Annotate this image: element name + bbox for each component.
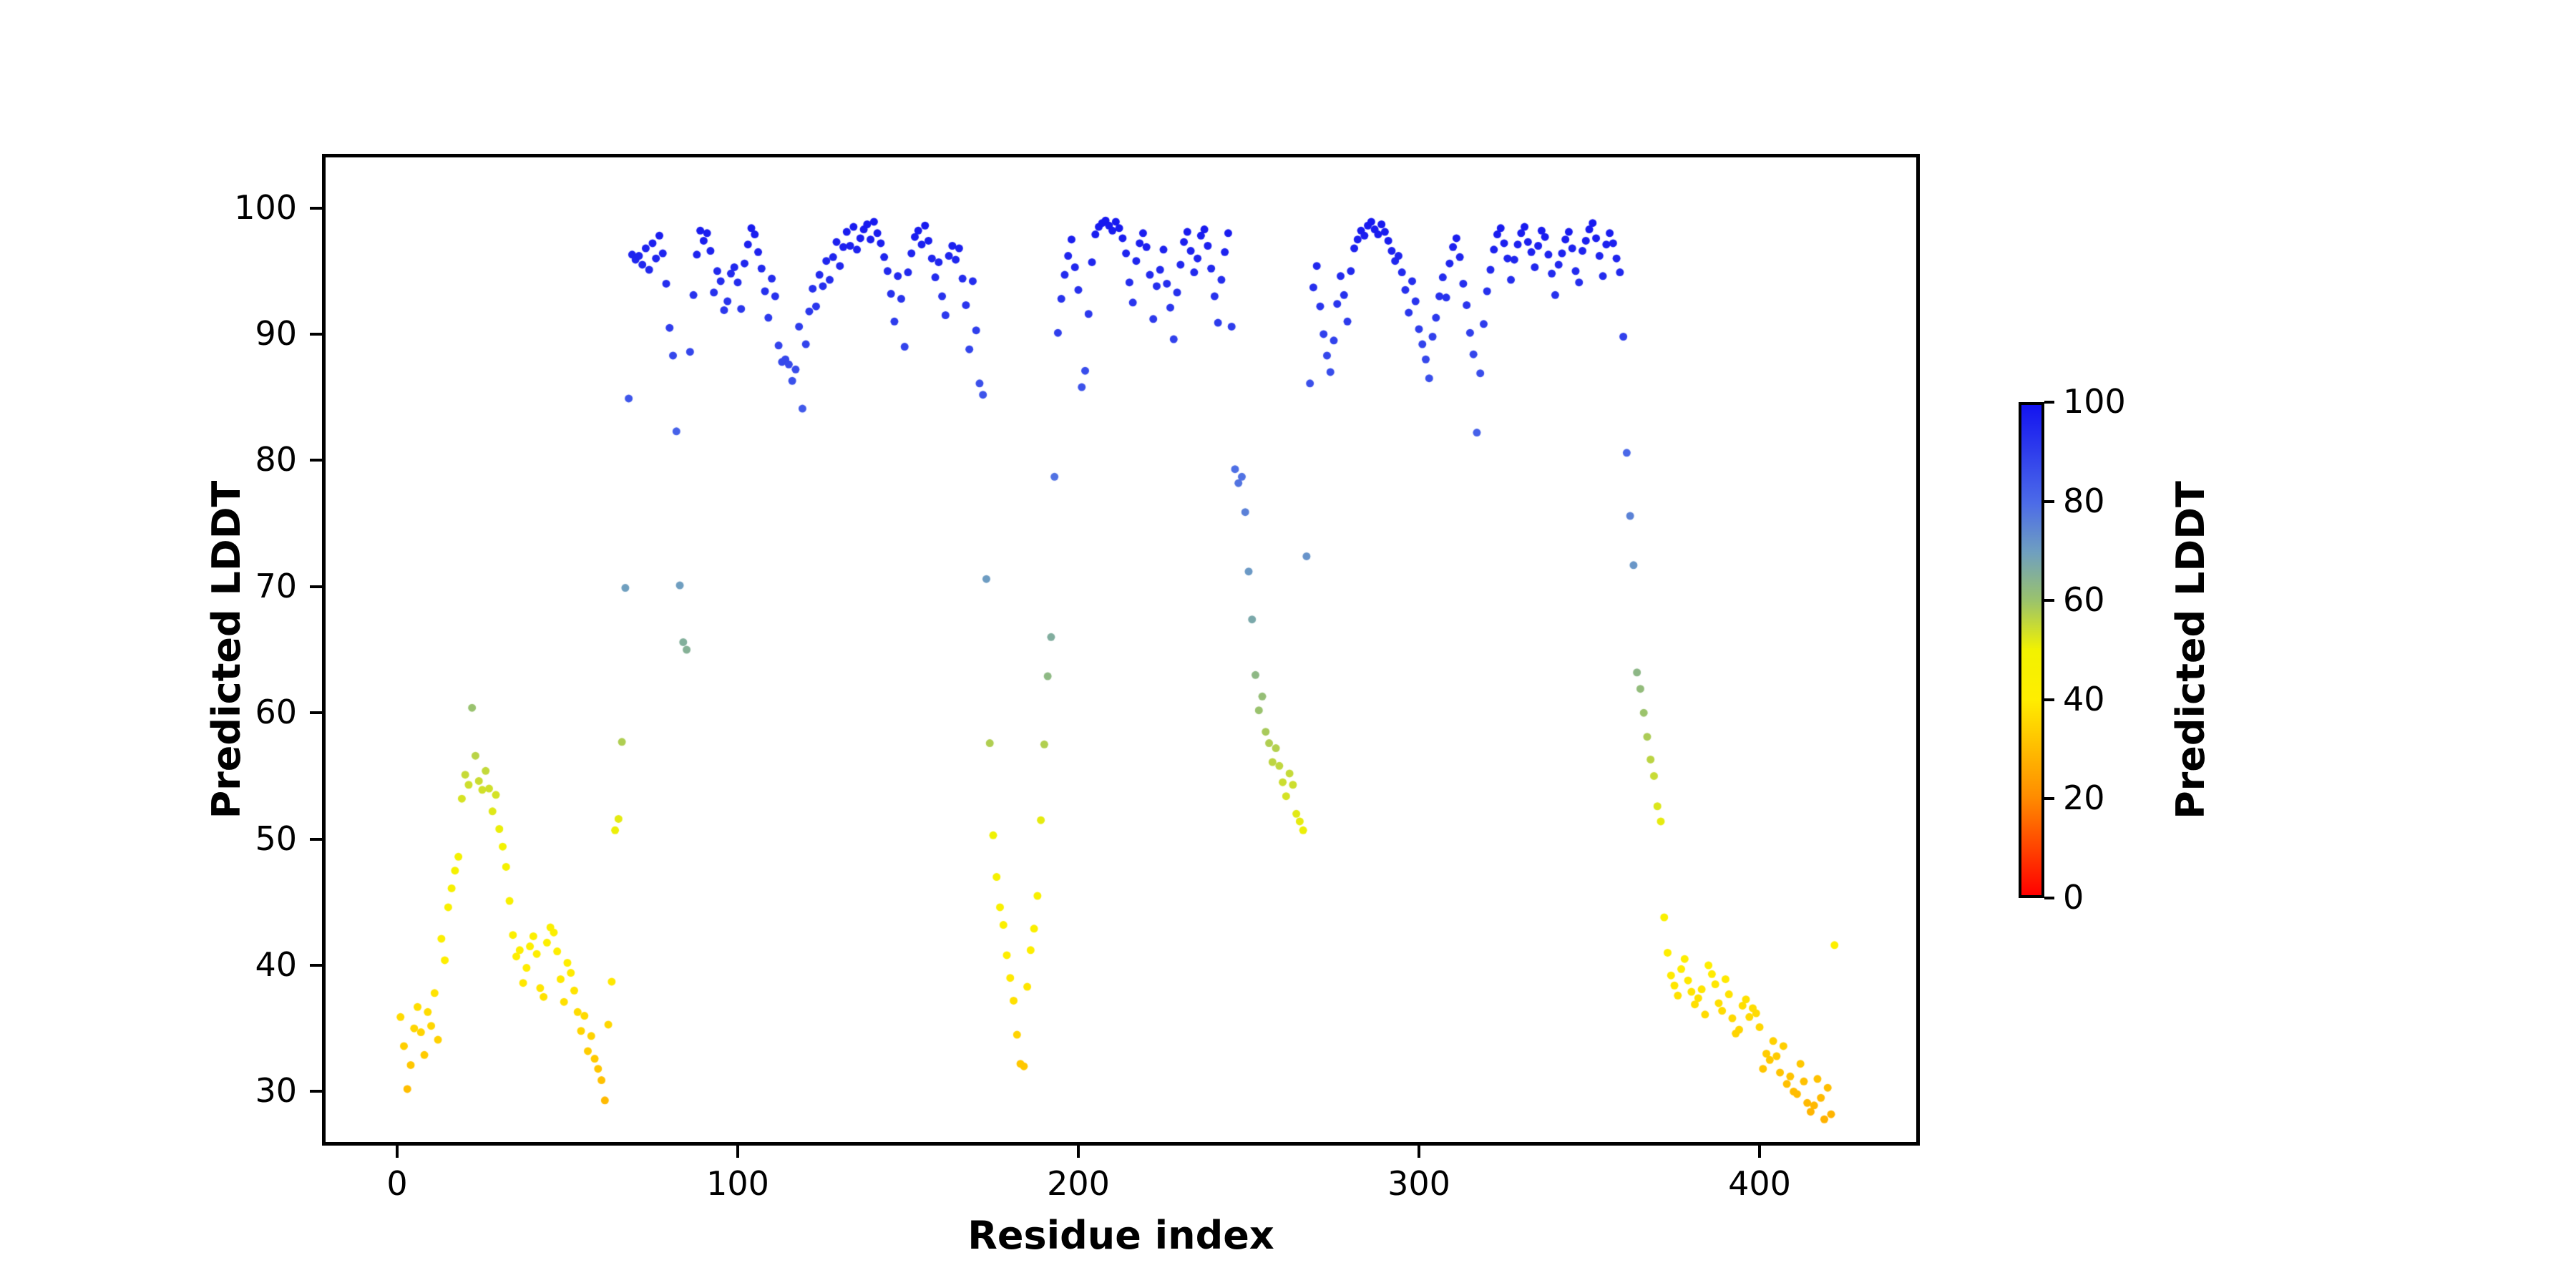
colorbar-tick-label: 60	[2063, 583, 2105, 616]
x-axis-title: Residue index	[322, 1216, 1920, 1255]
colorbar-tick-mark	[2044, 500, 2054, 503]
scatter-points-layer	[326, 157, 1916, 1142]
x-tick-mark	[396, 1146, 399, 1158]
y-axis-title: Predicted LDDT	[208, 154, 246, 1146]
colorbar-tick-mark	[2044, 897, 2054, 899]
x-tick-mark	[1418, 1146, 1420, 1158]
x-tick-label: 300	[1347, 1167, 1491, 1200]
y-tick-mark	[310, 711, 322, 714]
colorbar-tick-mark	[2044, 599, 2054, 602]
colorbar-tick-mark	[2044, 401, 2054, 404]
colorbar-tick-label: 0	[2063, 881, 2084, 914]
colorbar-tick-mark	[2044, 797, 2054, 800]
colorbar-tick-label: 80	[2063, 484, 2105, 517]
y-tick-mark	[310, 1090, 322, 1093]
y-tick-mark	[310, 585, 322, 588]
colorbar	[2019, 402, 2044, 898]
y-tick-mark	[310, 207, 322, 210]
x-tick-label: 100	[666, 1167, 809, 1200]
y-tick-mark	[310, 964, 322, 967]
colorbar-tick-label: 20	[2063, 781, 2105, 814]
x-tick-label: 200	[1007, 1167, 1150, 1200]
x-tick-mark	[736, 1146, 739, 1158]
colorbar-tick-label: 40	[2063, 683, 2105, 716]
x-tick-mark	[1077, 1146, 1080, 1158]
colorbar-tick-label: 100	[2063, 385, 2126, 418]
colorbar-gradient	[2019, 402, 2044, 898]
scatter-plot-axes	[322, 154, 1920, 1146]
figure-canvas: 30405060708090100 0100200300400 Residue …	[0, 0, 2576, 1288]
y-tick-mark	[310, 459, 322, 462]
x-tick-mark	[1758, 1146, 1761, 1158]
y-tick-mark	[310, 333, 322, 336]
x-tick-label: 400	[1688, 1167, 1831, 1200]
colorbar-tick-mark	[2044, 698, 2054, 701]
x-tick-label: 0	[326, 1167, 469, 1200]
colorbar-title: Predicted LDDT	[2172, 402, 2210, 898]
y-tick-mark	[310, 838, 322, 841]
